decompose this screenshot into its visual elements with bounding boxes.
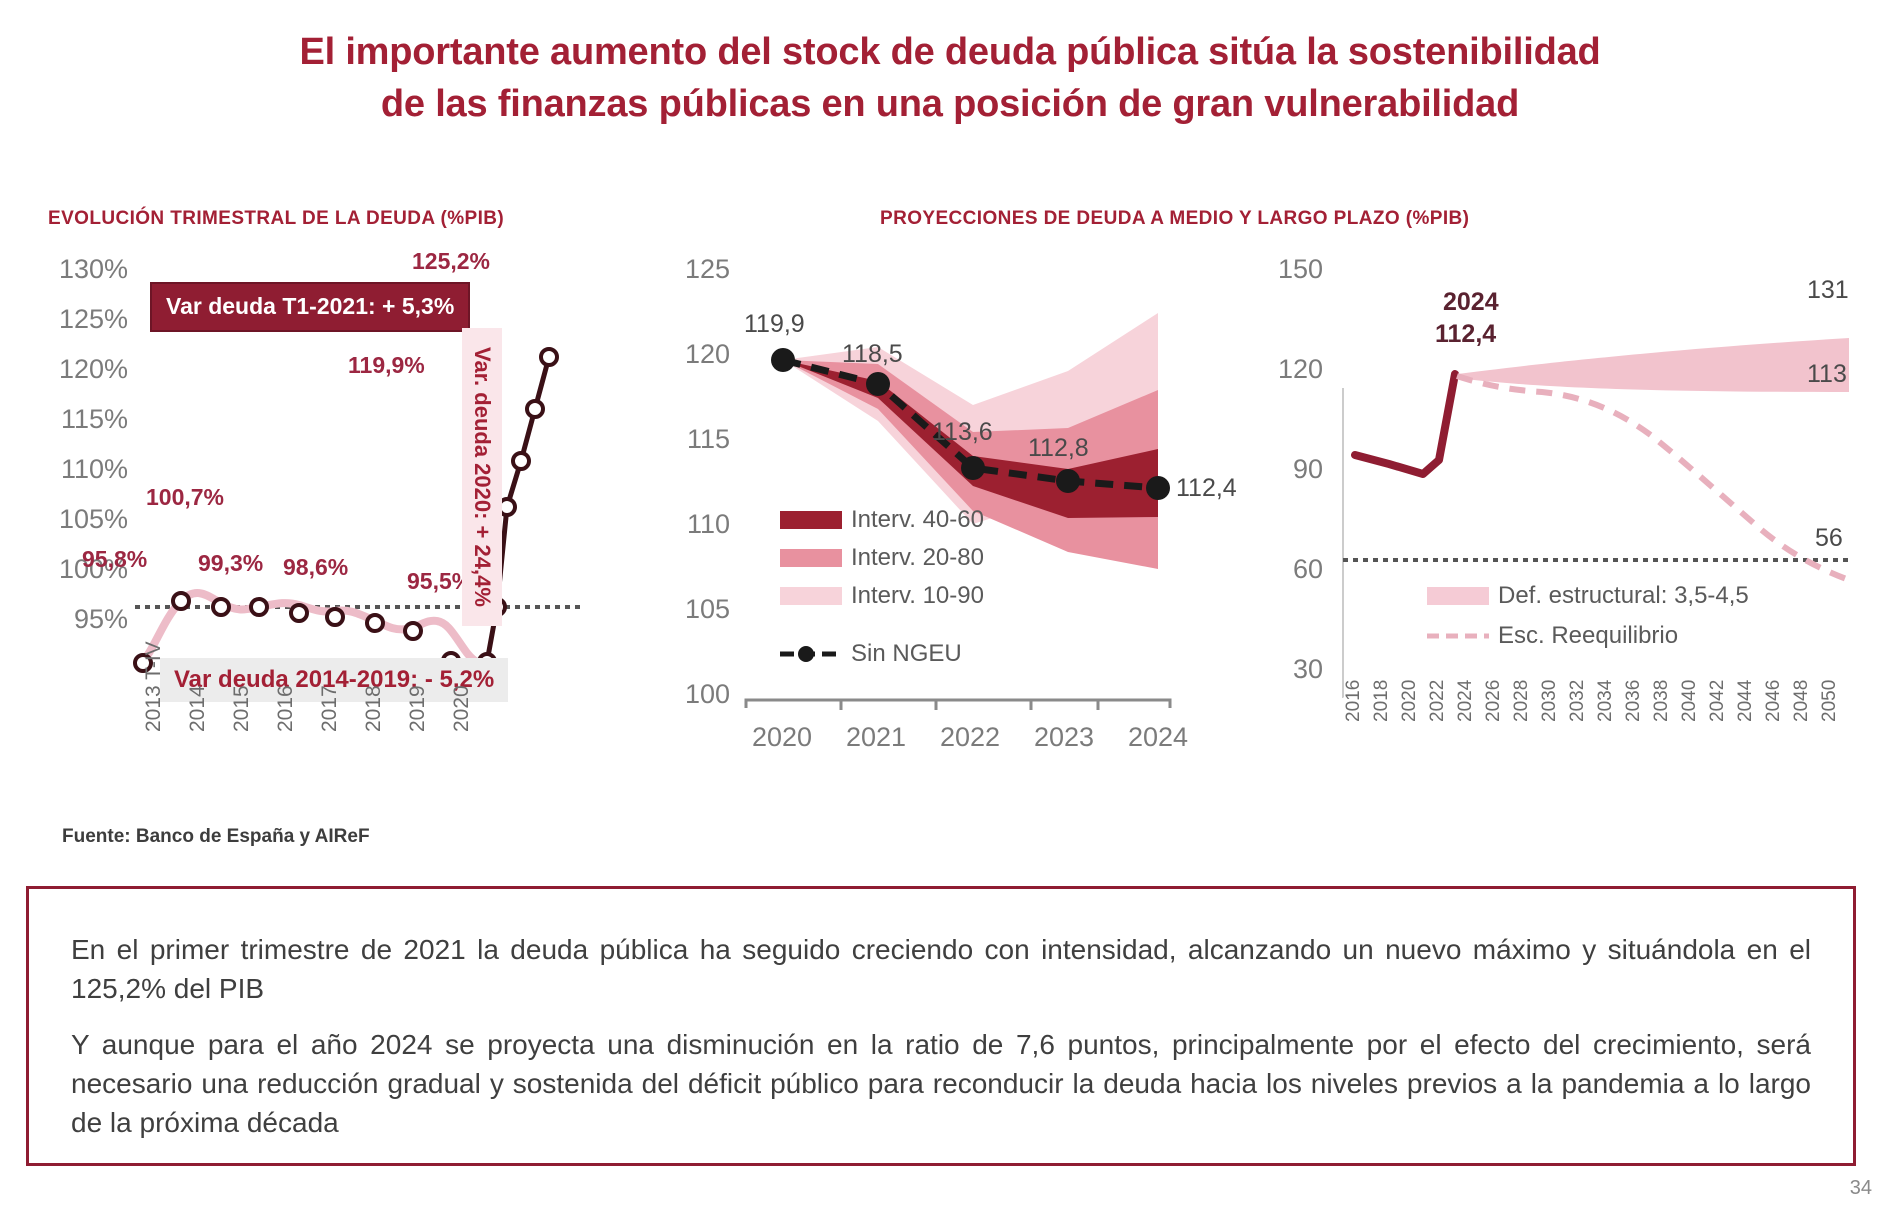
chart1-xtick-2016: 2016 [274,685,298,732]
chart3-ytick-30: 30 [1243,654,1323,685]
chart2-x-axis [746,700,1170,708]
chart1-label-119-9: 119,9% [348,352,425,379]
summary-paragraph-1: En el primer trimestre de 2021 la deuda … [71,931,1811,1008]
chart3-ytick-120: 120 [1243,354,1323,385]
page-number: 34 [1850,1177,1872,1200]
chart1-ytick-130: 130% [28,254,128,285]
legend-swatch-2080-icon [780,549,842,567]
chart2-ytick-115: 115 [650,424,730,455]
chart-proyecciones-largo-plazo: 150 120 90 60 30 2024 112,4 131 113 56 [1255,262,1895,692]
chart1-ytick-125: 125% [28,304,128,335]
chart1-ytick-110: 110% [28,454,128,485]
chart1-label-98-6: 98,6% [283,554,348,581]
chart1-light-trend-line [141,593,491,664]
chart3-xtick-2038: 2038 [1651,680,1673,722]
chart2-ytick-105: 105 [650,594,730,625]
page-title: El importante aumento del stock de deuda… [0,26,1900,131]
chart1-ytick-95: 95% [28,604,128,635]
chart3-legend-label-def-estructural: Def. estructural: 3,5-4,5 [1498,582,1749,610]
chart2-label-112-4: 112,4 [1176,474,1237,503]
chart3-xtick-2022: 2022 [1427,680,1449,722]
chart3-line-esc-reequilibrio [1457,376,1849,580]
chart3-xtick-2040: 2040 [1679,680,1701,722]
chart2-xtick-2024: 2024 [1128,722,1188,753]
chart3-label-113: 113 [1807,360,1847,389]
summary-textbox: En el primer trimestre de 2021 la deuda … [26,886,1856,1166]
chart3-band-def-estructural [1457,338,1849,392]
chart3-label-131: 131 [1807,276,1849,305]
chart1-xtick-2018: 2018 [362,685,386,732]
chart2-ytick-120: 120 [650,339,730,370]
legend-swatch-4060-icon [780,511,842,529]
chart3-ytick-60: 60 [1243,554,1323,585]
summary-paragraph-2: Y aunque para el año 2024 se proyecta un… [71,1026,1811,1142]
chart3-xtick-2034: 2034 [1595,680,1617,722]
chart3-xtick-2032: 2032 [1567,680,1589,722]
chart2-ytick-110: 110 [650,509,730,540]
chart2-xtick-2022: 2022 [940,722,1000,753]
chart2-ytick-125: 125 [650,254,730,285]
title-line-2: de las finanzas públicas en una posición… [0,78,1900,130]
chart2-legend-label-4060: Interv. 40-60 [851,506,984,534]
chart2-label-118-5: 118,5 [842,340,903,369]
chart1-xtick-2014: 2014 [186,685,210,732]
chart-proyecciones-medio-plazo: 125 120 115 110 105 100 [660,262,1260,692]
slide-root: El importante aumento del stock de deuda… [0,0,1900,1210]
chart1-xtick-2013: 2013 T-IV [142,641,166,732]
chart1-xtick-2015: 2015 [230,685,254,732]
badge-var-deuda-2020: Var. deuda 2020: + 24,4% [462,328,502,626]
chart3-ytick-150: 150 [1243,254,1323,285]
chart1-heading: EVOLUCIÓN TRIMESTRAL DE LA DEUDA (%PIB) [48,208,504,230]
legend-swatch-1090-icon [780,587,842,605]
chart3-line-observada [1355,374,1455,474]
chart2-legend-label-2080: Interv. 20-80 [851,544,984,572]
chart1-ytick-120: 120% [28,354,128,385]
legend-swatch-esc-reequilibrio-icon [1427,627,1489,645]
chart2-legend-item-sin-ngeu: Sin NGEU [780,640,962,668]
chart1-label-95-8: 95,8% [82,546,147,573]
chart-evolucion-trimestral: 130% 125% 120% 115% 110% 105% 100% 95% [30,262,590,692]
chart3-ytick-90: 90 [1243,454,1323,485]
chart2-label-112-8: 112,8 [1028,434,1089,463]
chart1-ytick-115: 115% [28,404,128,435]
chart3-xtick-2028: 2028 [1511,680,1533,722]
chart3-xtick-2026: 2026 [1483,680,1505,722]
chart1-ytick-105: 105% [28,504,128,535]
chart3-xtick-2018: 2018 [1371,680,1393,722]
legend-swatch-sin-ngeu-icon [780,645,842,663]
badge-var-deuda-t1-2021: Var deuda T1-2021: + 5,3% [150,282,470,332]
chart3-xtick-2036: 2036 [1623,680,1645,722]
chart3-xtick-2020: 2020 [1399,680,1421,722]
source-note: Fuente: Banco de España y AIReF [62,826,370,848]
chart2-legend-label-sin-ngeu: Sin NGEU [851,640,962,668]
legend-swatch-def-estructural-icon [1427,587,1489,605]
chart3-xtick-2016: 2016 [1343,680,1365,722]
chart2-xtick-2021: 2021 [846,722,906,753]
chart2-heading: PROYECCIONES DE DEUDA A MEDIO Y LARGO PL… [880,208,1469,230]
chart3-legend-item-def-estructural: Def. estructural: 3,5-4,5 [1427,582,1749,610]
chart2-legend-item-4060: Interv. 40-60 [780,506,984,534]
chart1-xtick-2017: 2017 [318,685,342,732]
chart3-label-112-4: 112,4 [1435,320,1496,349]
chart2-label-113-6: 113,6 [932,418,993,447]
chart1-label-125-2: 125,2% [412,248,490,275]
chart3-label-56: 56 [1815,524,1843,553]
chart1-label-100-7: 100,7% [146,484,224,511]
chart3-xtick-2030: 2030 [1539,680,1561,722]
chart3-xtick-2048: 2048 [1791,680,1813,722]
chart3-xtick-2024: 2024 [1455,680,1477,722]
chart3-legend-label-esc-reequilibrio: Esc. Reequilibrio [1498,622,1678,650]
chart3-xtick-2044: 2044 [1735,680,1757,722]
title-line-1: El importante aumento del stock de deuda… [299,31,1600,73]
chart2-legend-item-1090: Interv. 10-90 [780,582,984,610]
chart2-xtick-2023: 2023 [1034,722,1094,753]
chart1-xtick-2020: 2020 [450,685,474,732]
chart3-xtick-2042: 2042 [1707,680,1729,722]
chart3-xtick-2050: 2050 [1819,680,1841,722]
chart3-xtick-2046: 2046 [1763,680,1785,722]
chart3-legend-item-esc-reequilibrio: Esc. Reequilibrio [1427,622,1678,650]
chart1-xtick-2019: 2019 [406,685,430,732]
chart2-legend-label-1090: Interv. 10-90 [851,582,984,610]
chart3-label-2024: 2024 [1443,288,1499,317]
chart2-ytick-100: 100 [650,679,730,710]
chart1-label-99-3: 99,3% [198,550,263,577]
chart2-legend-item-2080: Interv. 20-80 [780,544,984,572]
chart2-label-119-9: 119,9 [744,310,805,339]
chart2-xtick-2020: 2020 [752,722,812,753]
